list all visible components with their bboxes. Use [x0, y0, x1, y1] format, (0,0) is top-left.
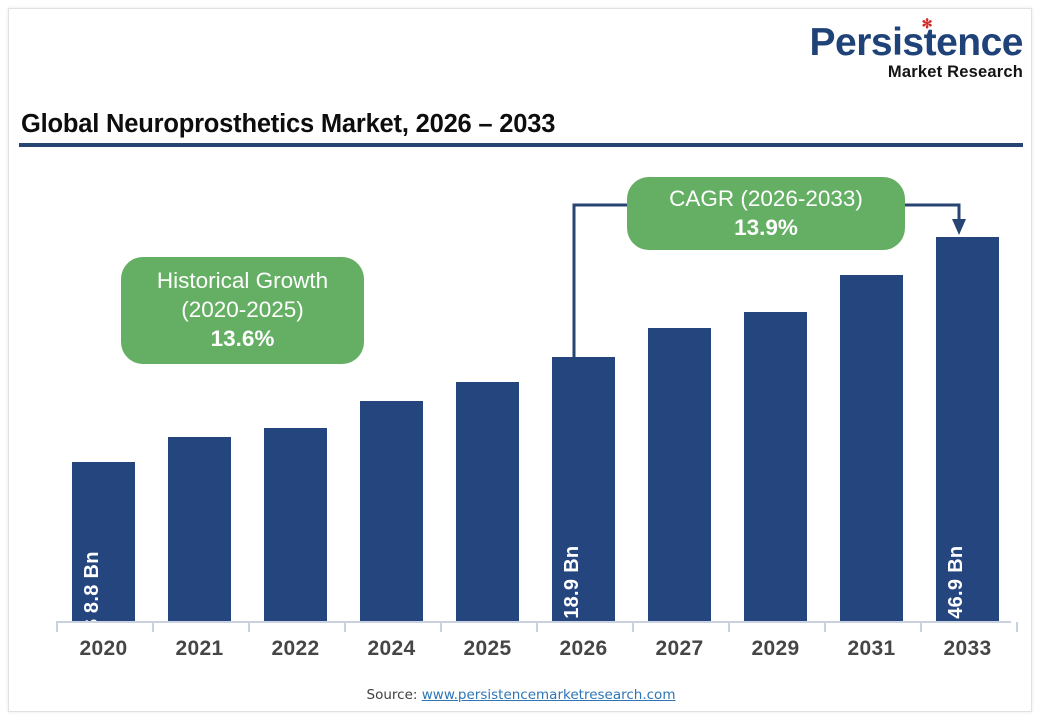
cagr-label: CAGR (2026-2033) — [627, 185, 905, 214]
axis-tick — [632, 622, 634, 632]
x-label-2031: 2031 — [840, 637, 903, 661]
x-label-2027: 2027 — [648, 637, 711, 661]
bar-2031 — [840, 275, 903, 621]
cagr-callout: CAGR (2026-2033) 13.9% — [627, 177, 905, 250]
axis-tick — [1016, 622, 1018, 632]
chart-card: Persistence✻ Market Research Global Neur… — [8, 8, 1032, 712]
bar-2021 — [168, 437, 231, 621]
axis-tick — [56, 622, 58, 632]
x-label-2033: 2033 — [936, 637, 999, 661]
axis-tick — [824, 622, 826, 632]
bar-2026: US$ 18.9 Bn — [552, 357, 615, 621]
bar-2025 — [456, 382, 519, 621]
historical-growth-line2: (2020-2025) — [121, 296, 364, 325]
x-label-2026: 2026 — [552, 637, 615, 661]
source-link[interactable]: www.persistencemarketresearch.com — [422, 687, 676, 703]
x-axis-line — [56, 621, 1011, 623]
x-label-2025: 2025 — [456, 637, 519, 661]
x-label-2024: 2024 — [360, 637, 423, 661]
x-label-2022: 2022 — [264, 637, 327, 661]
x-label-2029: 2029 — [744, 637, 807, 661]
historical-growth-line1: Historical Growth — [121, 267, 364, 296]
bar-2027 — [648, 328, 711, 621]
historical-growth-callout: Historical Growth (2020-2025) 13.6% — [121, 257, 364, 364]
bar-label-wrap: US$ 8.8 Bn — [72, 462, 135, 621]
bar-2022 — [264, 428, 327, 621]
bar-2024 — [360, 401, 423, 621]
bar-2020: US$ 8.8 Bn — [72, 462, 135, 621]
x-label-2021: 2021 — [168, 637, 231, 661]
axis-tick — [344, 622, 346, 632]
source-note: Source: www.persistencemarketresearch.co… — [9, 687, 1033, 703]
historical-growth-value: 13.6% — [121, 325, 364, 354]
axis-tick — [248, 622, 250, 632]
cagr-value: 13.9% — [627, 214, 905, 243]
axis-tick — [728, 622, 730, 632]
bar-2029 — [744, 312, 807, 621]
source-prefix: Source: — [367, 687, 422, 703]
axis-tick — [536, 622, 538, 632]
bar-label-wrap: US$ 46.9 Bn — [936, 237, 999, 621]
bar-label-wrap: US$ 18.9 Bn — [552, 357, 615, 621]
bar-chart-plot-area: US$ 8.8 BnUS$ 18.9 BnUS$ 46.9 Bn 2020202… — [9, 9, 1033, 713]
axis-tick — [152, 622, 154, 632]
axis-tick — [440, 622, 442, 632]
x-label-2020: 2020 — [72, 637, 135, 661]
bar-2033: US$ 46.9 Bn — [936, 237, 999, 621]
axis-tick — [920, 622, 922, 632]
